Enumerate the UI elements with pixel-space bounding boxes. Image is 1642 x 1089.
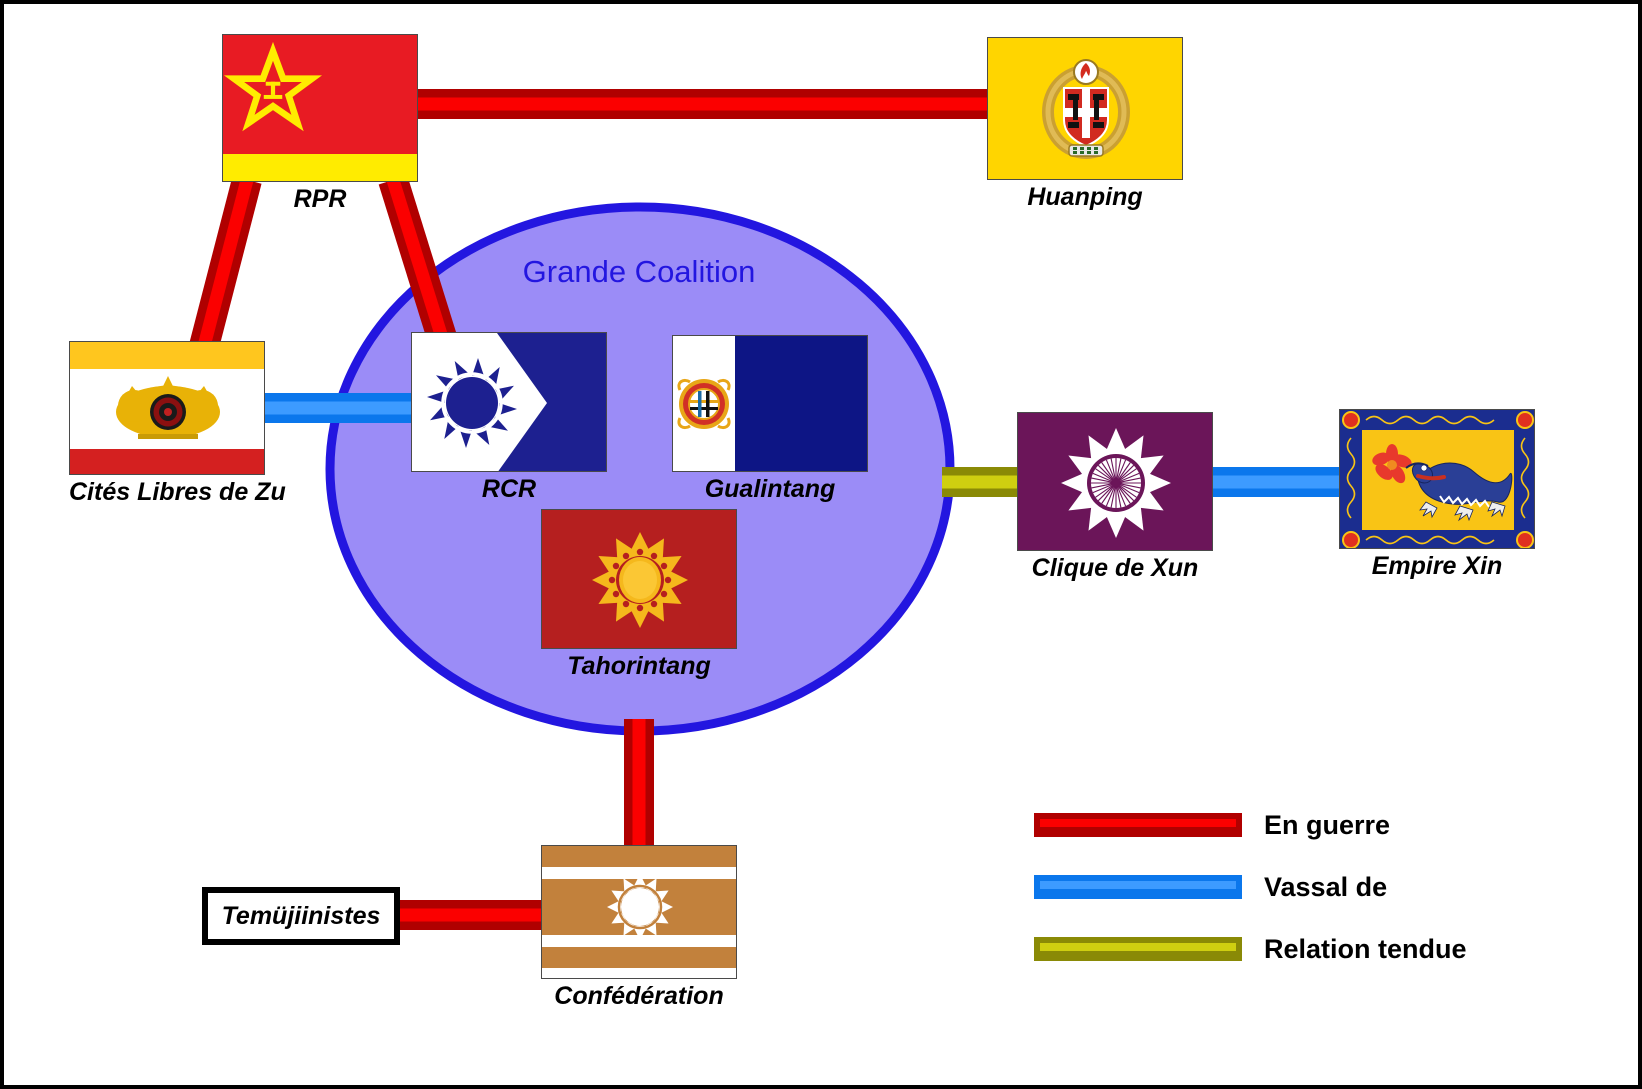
- node-label-gualintang: Gualintang: [672, 475, 868, 504]
- node-confederation[interactable]: Confédération: [541, 845, 737, 1011]
- node-clique-de-xun[interactable]: Clique de Xun: [1017, 412, 1213, 583]
- confederation-flag: [541, 845, 737, 979]
- node-label-clique-de-xun: Clique de Xun: [1017, 554, 1213, 583]
- cites-libres-flag: [69, 341, 265, 475]
- legend-label-vassal: Vassal de: [1264, 872, 1387, 903]
- legend-row-war: En guerre: [1034, 794, 1467, 856]
- huanping-flag: [987, 37, 1183, 180]
- rpr-flag: [222, 34, 418, 182]
- legend-label-tense: Relation tendue: [1264, 934, 1467, 965]
- node-label-tahorintang: Tahorintang: [541, 652, 737, 681]
- node-gualintang[interactable]: Gualintang: [672, 335, 868, 504]
- node-tahorintang[interactable]: Tahorintang: [541, 509, 737, 681]
- node-label-cites-libres-de-zu: Cités Libres de Zu: [69, 478, 286, 507]
- legend-swatch-war: [1034, 813, 1242, 837]
- node-label-empire-xin: Empire Xin: [1339, 552, 1535, 581]
- gualintang-flag: [672, 335, 868, 472]
- node-rpr[interactable]: RPR: [222, 34, 418, 214]
- node-empire-xin[interactable]: Empire Xin: [1339, 409, 1535, 581]
- rcr-flag: [411, 332, 607, 472]
- node-label-rpr: RPR: [222, 185, 418, 214]
- legend-label-war: En guerre: [1264, 810, 1390, 841]
- empire-xin-flag: [1339, 409, 1535, 549]
- legend-swatch-tense: [1034, 937, 1242, 961]
- node-label-rcr: RCR: [411, 475, 607, 504]
- legend-row-tense: Relation tendue: [1034, 918, 1467, 980]
- node-huanping[interactable]: Huanping: [987, 37, 1183, 212]
- legend-swatch-vassal: [1034, 875, 1242, 899]
- legend-row-vassal: Vassal de: [1034, 856, 1467, 918]
- tahorintang-flag: [541, 509, 737, 649]
- node-label-temujiinistes: Temüjiinistes: [222, 902, 381, 931]
- clique-de-xun-flag: [1017, 412, 1213, 551]
- node-temujiinistes[interactable]: Temüjiinistes: [202, 887, 400, 945]
- node-label-huanping: Huanping: [987, 183, 1183, 212]
- legend: En guerre Vassal de Relation tendue: [1034, 794, 1467, 980]
- node-label-confederation: Confédération: [541, 982, 737, 1011]
- node-cites-libres-de-zu[interactable]: Cités Libres de Zu: [69, 341, 286, 507]
- relations-diagram: Grande Coalition: [0, 0, 1642, 1089]
- node-rcr[interactable]: RCR: [411, 332, 607, 504]
